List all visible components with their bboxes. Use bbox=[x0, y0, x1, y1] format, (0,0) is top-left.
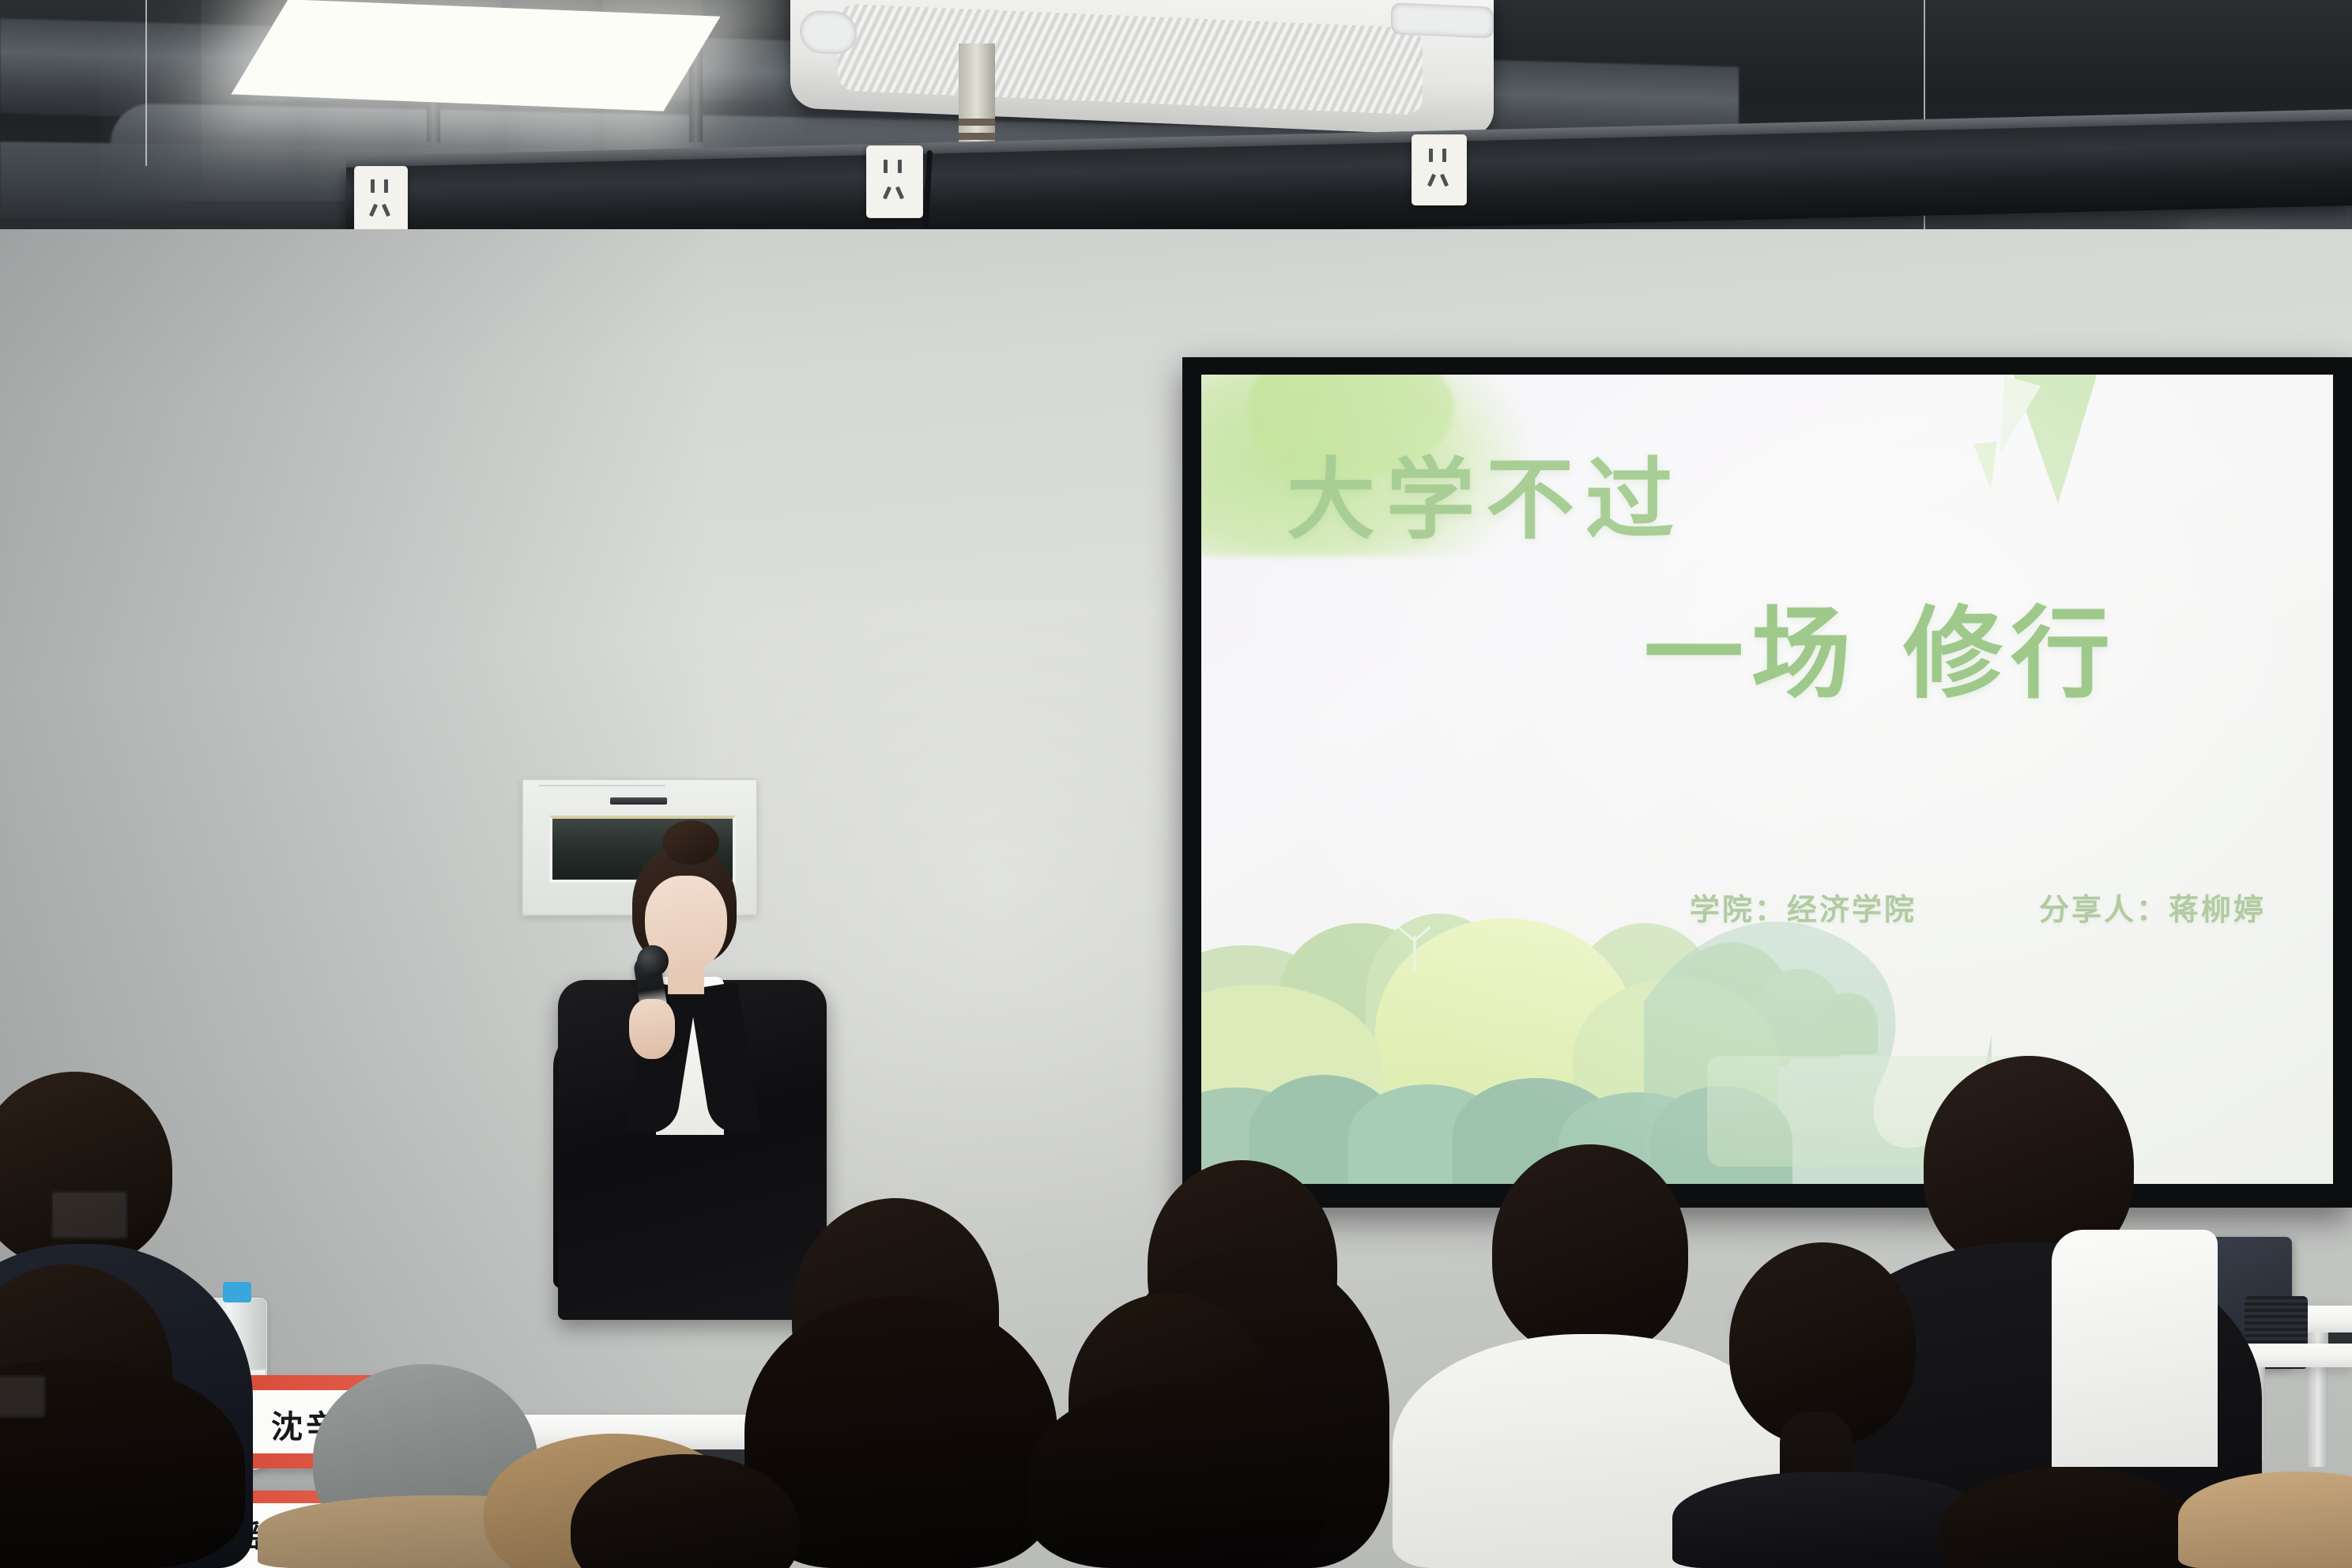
slide-speaker-label: 分享人：蒋柳婷 bbox=[2039, 885, 2266, 929]
slide-title-line-2: 一场修行 bbox=[1644, 574, 2118, 718]
slide-title-line-2b: 修行 bbox=[1903, 595, 2118, 712]
slide-college-label: 学院：经济学院 bbox=[1690, 885, 1917, 929]
panel-seam bbox=[539, 785, 665, 786]
power-outlet[interactable] bbox=[1412, 134, 1467, 205]
eyeglasses bbox=[0, 1375, 46, 1418]
panel-handle bbox=[610, 797, 667, 805]
eyeglasses bbox=[51, 1190, 128, 1239]
bottle-cap bbox=[223, 1282, 251, 1302]
projector-mount-band bbox=[959, 133, 995, 140]
projection-screen-frame: 大学不过 一场修行 学院：经济学院 分享人：蒋柳婷 bbox=[1182, 357, 2352, 1208]
hanging-wire bbox=[145, 0, 147, 166]
slide-title-line-1: 大学不过 bbox=[1287, 428, 1685, 556]
air-conditioner-vent bbox=[800, 9, 857, 55]
presenter-hair-bun bbox=[662, 820, 719, 865]
power-outlet[interactable] bbox=[866, 145, 923, 218]
power-outlet[interactable] bbox=[354, 166, 408, 234]
lecture-hall-photo: 大学不过 一场修行 学院：经济学院 分享人：蒋柳婷 沈辛毅 辰瑶 bbox=[0, 0, 2352, 1568]
air-conditioner-vent bbox=[1391, 2, 1494, 38]
projection-screen: 大学不过 一场修行 学院：经济学院 分享人：蒋柳婷 bbox=[1201, 375, 2333, 1184]
audience-white-shirt bbox=[2052, 1230, 2218, 1467]
presenter-hand bbox=[629, 999, 675, 1059]
slide-title-line-2a: 一场 bbox=[1644, 595, 1859, 712]
projector-mount-band bbox=[959, 119, 995, 126]
ceiling-light-panel bbox=[231, 0, 720, 111]
